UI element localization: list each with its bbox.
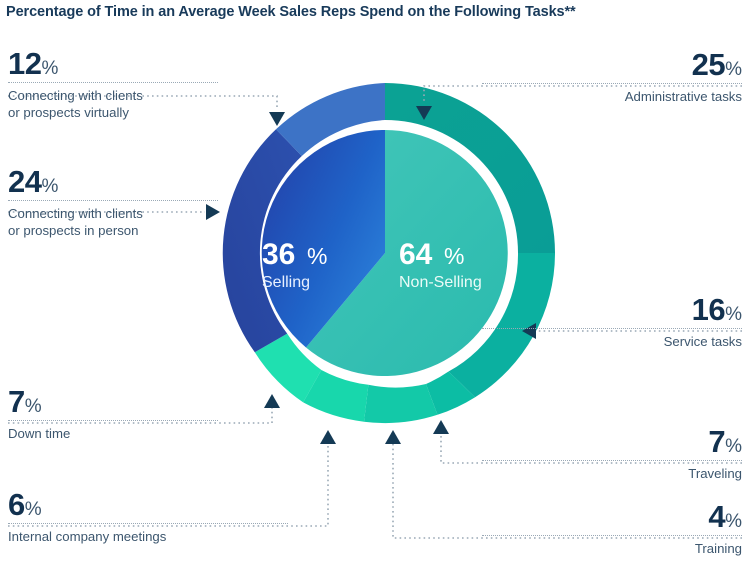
- callout-training-value: 4%: [482, 501, 742, 532]
- callout-service-value: 16%: [482, 294, 742, 325]
- arrow-training-icon: [385, 430, 401, 444]
- callout-in-person: 24% Connecting with clients or prospects…: [8, 166, 218, 240]
- callout-rule: [8, 420, 218, 421]
- callout-traveling: 7% Traveling: [482, 426, 742, 483]
- callout-rule: [482, 328, 742, 329]
- callout-down-time: 7% Down time: [8, 386, 218, 443]
- callout-in-person-label: Connecting with clients or prospects in …: [8, 206, 218, 240]
- callout-training: 4% Training: [482, 501, 742, 558]
- callout-rule: [8, 82, 218, 83]
- callout-virtually: 12% Connecting with clients or prospects…: [8, 48, 218, 122]
- callout-administrative-label: Administrative tasks: [482, 89, 742, 106]
- ring-segment-traveling: [364, 384, 438, 423]
- callout-in-person-value: 24%: [8, 166, 218, 197]
- callout-down-time-value: 7%: [8, 386, 218, 417]
- arrow-internal-meetings-icon: [320, 430, 336, 444]
- callout-training-label: Training: [482, 541, 742, 558]
- callout-internal-meetings-value: 6%: [8, 489, 288, 520]
- callout-rule: [8, 523, 288, 524]
- callout-rule: [482, 83, 742, 84]
- callout-virtually-value: 12%: [8, 48, 218, 79]
- arrow-down-time-icon: [264, 394, 280, 408]
- callout-administrative-value: 25%: [482, 49, 742, 80]
- callout-traveling-label: Traveling: [482, 466, 742, 483]
- callout-service-label: Service tasks: [482, 334, 742, 351]
- callout-administrative: 25% Administrative tasks: [482, 49, 742, 106]
- callout-virtually-label: Connecting with clients or prospects vir…: [8, 88, 218, 122]
- callout-rule: [8, 200, 218, 201]
- callout-traveling-value: 7%: [482, 426, 742, 457]
- arrow-traveling-icon: [433, 420, 449, 434]
- callout-internal-meetings-label: Internal company meetings: [8, 529, 288, 546]
- callout-rule: [482, 535, 742, 536]
- callout-rule: [482, 460, 742, 461]
- callout-internal-meetings: 6% Internal company meetings: [8, 489, 288, 546]
- callout-down-time-label: Down time: [8, 426, 218, 443]
- callout-service: 16% Service tasks: [482, 294, 742, 351]
